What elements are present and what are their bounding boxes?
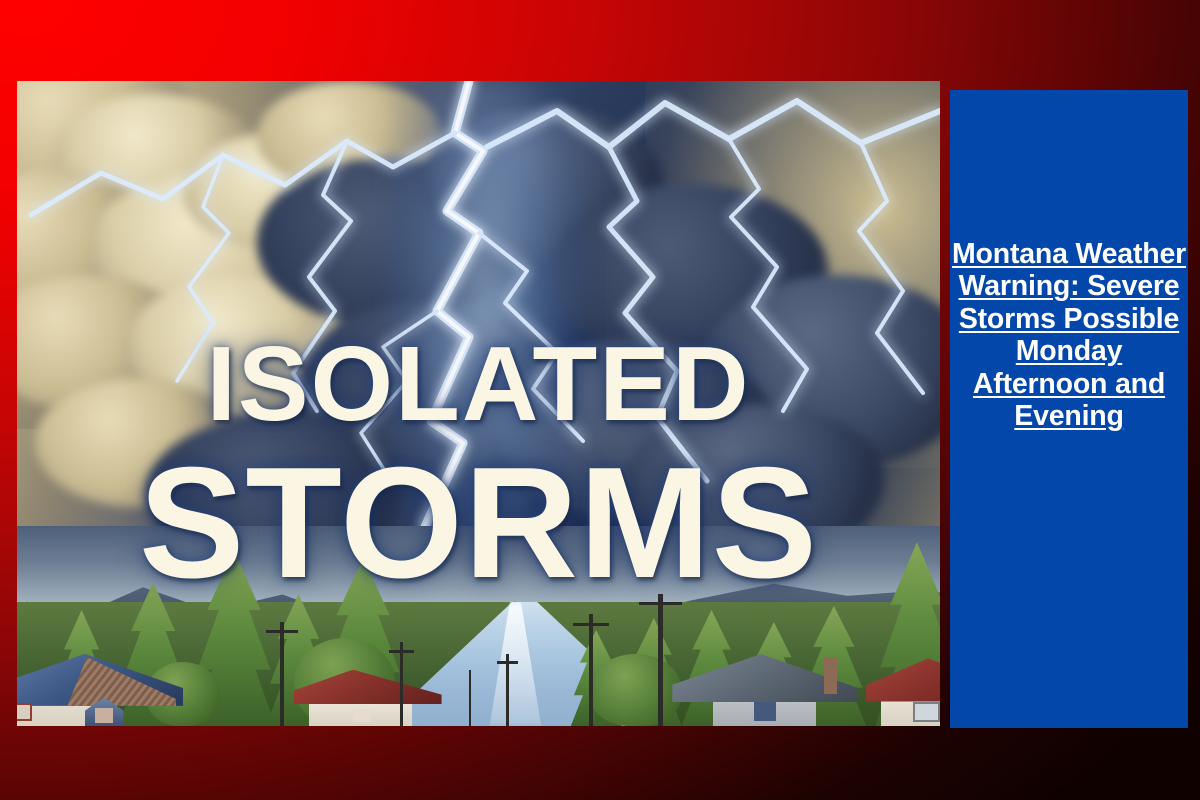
hero-image[interactable]: ISOLATED STORMS — [17, 81, 940, 726]
house — [17, 642, 183, 726]
pole-crossarm — [266, 630, 298, 633]
window — [95, 708, 113, 723]
utility-pole — [658, 594, 663, 726]
window — [353, 709, 371, 722]
utility-pole — [469, 670, 471, 726]
window — [754, 702, 776, 721]
lightning-branch — [31, 133, 455, 215]
page-root: ISOLATED STORMS Montana Weather Warning:… — [0, 0, 1200, 800]
pole-crossarm — [389, 650, 414, 653]
utility-pole — [506, 654, 509, 726]
chimney — [824, 657, 837, 694]
house — [866, 654, 940, 726]
deciduous-tree — [589, 654, 681, 726]
pole-crossarm — [573, 623, 609, 626]
utility-pole — [589, 614, 593, 726]
window — [913, 702, 940, 722]
hero-headline-line-1: ISOLATED — [17, 336, 940, 434]
article-headline-link[interactable]: Montana Weather Warning: Severe Storms P… — [950, 238, 1188, 433]
house-roof — [866, 658, 940, 701]
house-roof — [294, 670, 442, 705]
article-headline-panel[interactable]: Montana Weather Warning: Severe Storms P… — [950, 90, 1188, 728]
lightning-branch — [487, 101, 940, 147]
pole-crossarm — [497, 661, 518, 664]
window — [17, 703, 32, 721]
utility-pole — [280, 622, 284, 726]
utility-pole — [400, 642, 403, 726]
house — [294, 666, 442, 726]
hero-headline-line-2: STORMS — [17, 451, 940, 596]
house — [672, 646, 857, 726]
